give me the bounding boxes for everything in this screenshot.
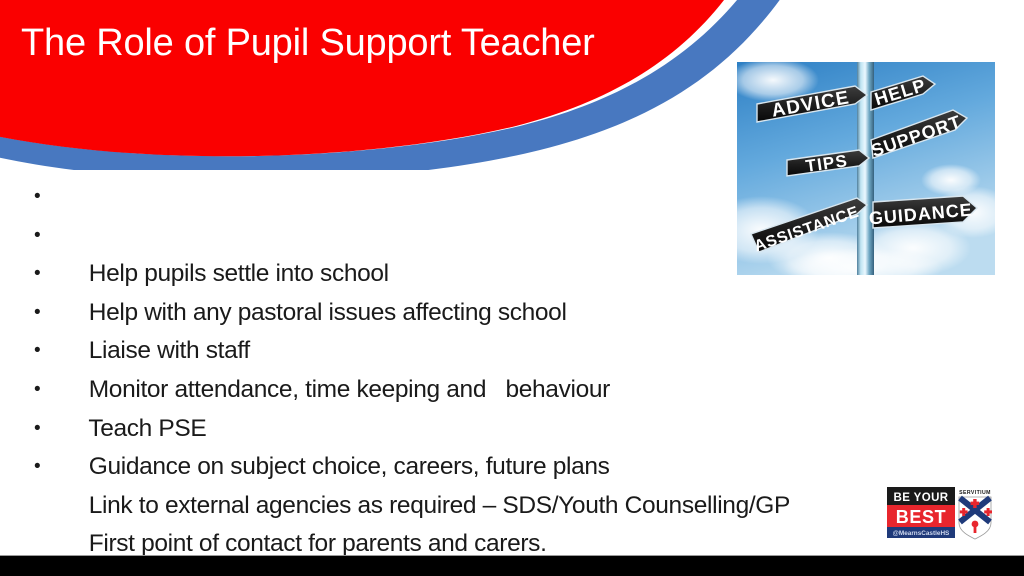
- bullet-glyph: •: [34, 332, 40, 371]
- list-item-label: First point of contact for parents and c…: [89, 530, 547, 557]
- logo-line1: BE YOUR: [894, 492, 949, 504]
- bottom-letterbox-bar: [0, 556, 1024, 576]
- list-item: • Help pupils settle into school: [34, 178, 834, 217]
- signpost-image: ADVICE TIPS ASSISTANCE HELP SUPPORT: [737, 62, 995, 275]
- list-item: • Teach PSE: [34, 332, 834, 371]
- slide-canvas: The Role of Pupil Support Teacher • Help…: [0, 0, 1024, 576]
- list-item: • Link to external agencies as required …: [34, 410, 834, 449]
- logo-line2: BEST: [896, 507, 946, 527]
- logo-handle: @MearnsCastleHS: [893, 530, 950, 537]
- bullet-glyph: •: [34, 294, 40, 333]
- bullet-glyph: •: [34, 371, 40, 410]
- list-item: • First point of contact for parents and…: [34, 448, 834, 487]
- signpost-illustration: ADVICE TIPS ASSISTANCE HELP SUPPORT: [737, 62, 995, 275]
- list-item: • Monitor attendance, time keeping and b…: [34, 294, 834, 333]
- crest-motto: SERVITIUM: [959, 490, 991, 496]
- school-logo: BE YOUR BEST @MearnsCastleHS SERVITIUM: [887, 485, 995, 540]
- bullet-glyph: •: [34, 255, 40, 294]
- school-logo-graphic: BE YOUR BEST @MearnsCastleHS SERVITIUM: [887, 485, 995, 540]
- bullet-glyph: •: [34, 178, 40, 217]
- content-bullet-list: • Help pupils settle into school • Help …: [34, 178, 834, 487]
- bullet-glyph: •: [34, 448, 40, 487]
- page-title: The Role of Pupil Support Teacher: [21, 20, 721, 66]
- list-item-label: Link to external agencies as required – …: [89, 492, 790, 519]
- list-item: • Liaise with staff: [34, 255, 834, 294]
- list-item: • Help with any pastoral issues affectin…: [34, 217, 834, 256]
- school-crest: SERVITIUM: [959, 490, 992, 539]
- list-item: • Guidance on subject choice, careers, f…: [34, 371, 834, 410]
- bullet-glyph: •: [34, 217, 40, 256]
- bullet-glyph: •: [34, 410, 40, 449]
